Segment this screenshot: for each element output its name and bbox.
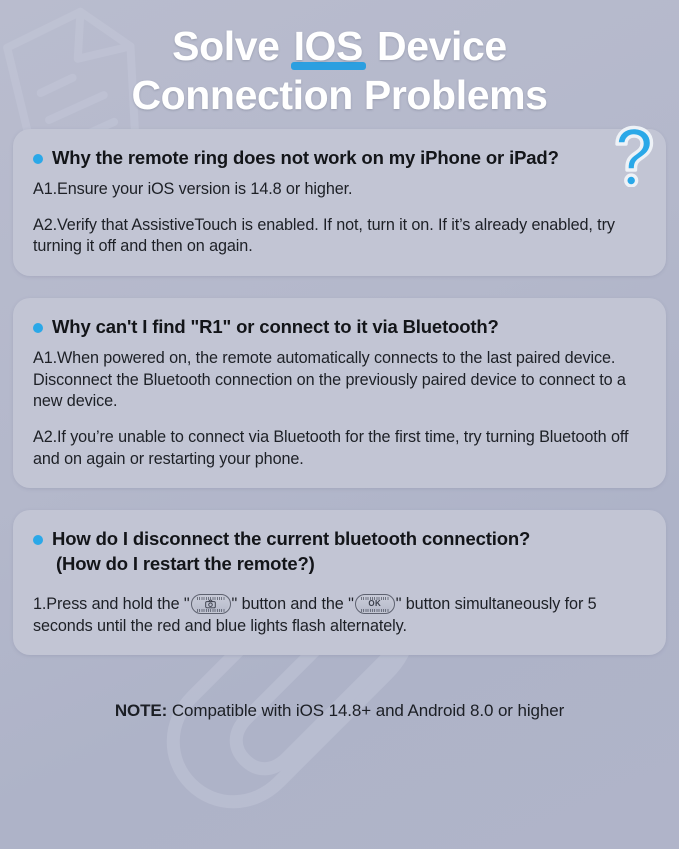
faq-question-row: Why the remote ring does not work on my …	[33, 146, 646, 171]
title-keyword-ios: IOS	[291, 22, 366, 71]
faq-question-main: How do I disconnect the current bluetoot…	[52, 528, 530, 549]
faq-card-list: Why the remote ring does not work on my …	[0, 129, 679, 656]
faq-answers: A1.Ensure your iOS version is 14.8 or hi…	[33, 179, 646, 258]
page-header: Solve IOS Device Connection Problems	[0, 0, 679, 120]
faq-card: Why the remote ring does not work on my …	[13, 129, 666, 276]
instruction-middle: " button and the "	[232, 595, 354, 613]
faq-question-row: How do I disconnect the current bluetoot…	[33, 527, 646, 576]
ok-button-icon: OK	[355, 594, 395, 614]
bullet-dot-icon	[33, 154, 43, 164]
faq-question-sub: (How do I restart the remote?)	[52, 552, 530, 577]
faq-answer: A2.If you’re unable to connect via Bluet…	[33, 427, 646, 470]
faq-question: Why the remote ring does not work on my …	[52, 146, 559, 171]
faq-instruction: 1.Press and hold the "" button and the "…	[33, 594, 646, 637]
faq-card: Why can't I find "R1" or connect to it v…	[13, 298, 666, 488]
faq-question: Why can't I find "R1" or connect to it v…	[52, 315, 499, 340]
faq-answer: A1.When powered on, the remote automatic…	[33, 348, 646, 413]
note-label: NOTE:	[115, 701, 167, 720]
camera-glyph	[192, 595, 230, 613]
note-text: Compatible with iOS 14.8+ and Android 8.…	[167, 701, 564, 720]
faq-answer: A1.Ensure your iOS version is 14.8 or hi…	[33, 179, 646, 201]
title-prefix: Solve	[172, 23, 290, 69]
title-line-1: Solve IOS Device	[0, 22, 679, 71]
question-mark-icon	[605, 125, 661, 187]
ok-glyph: OK	[356, 595, 394, 613]
bullet-dot-icon	[33, 535, 43, 545]
compatibility-note: NOTE: Compatible with iOS 14.8+ and Andr…	[0, 701, 679, 721]
faq-answers: 1.Press and hold the "" button and the "…	[33, 594, 646, 637]
faq-answer: A2.Verify that AssistiveTouch is enabled…	[33, 215, 646, 258]
faq-answers: A1.When powered on, the remote automatic…	[33, 348, 646, 470]
faq-card: How do I disconnect the current bluetoot…	[13, 510, 666, 655]
faq-question: How do I disconnect the current bluetoot…	[52, 527, 530, 576]
title-line-2: Connection Problems	[0, 71, 679, 120]
instruction-prefix: 1.Press and hold the "	[33, 595, 190, 613]
title-suffix: Device	[366, 23, 507, 69]
faq-question-row: Why can't I find "R1" or connect to it v…	[33, 315, 646, 340]
bullet-dot-icon	[33, 323, 43, 333]
camera-button-icon	[191, 594, 231, 614]
page-title: Solve IOS Device Connection Problems	[0, 22, 679, 120]
